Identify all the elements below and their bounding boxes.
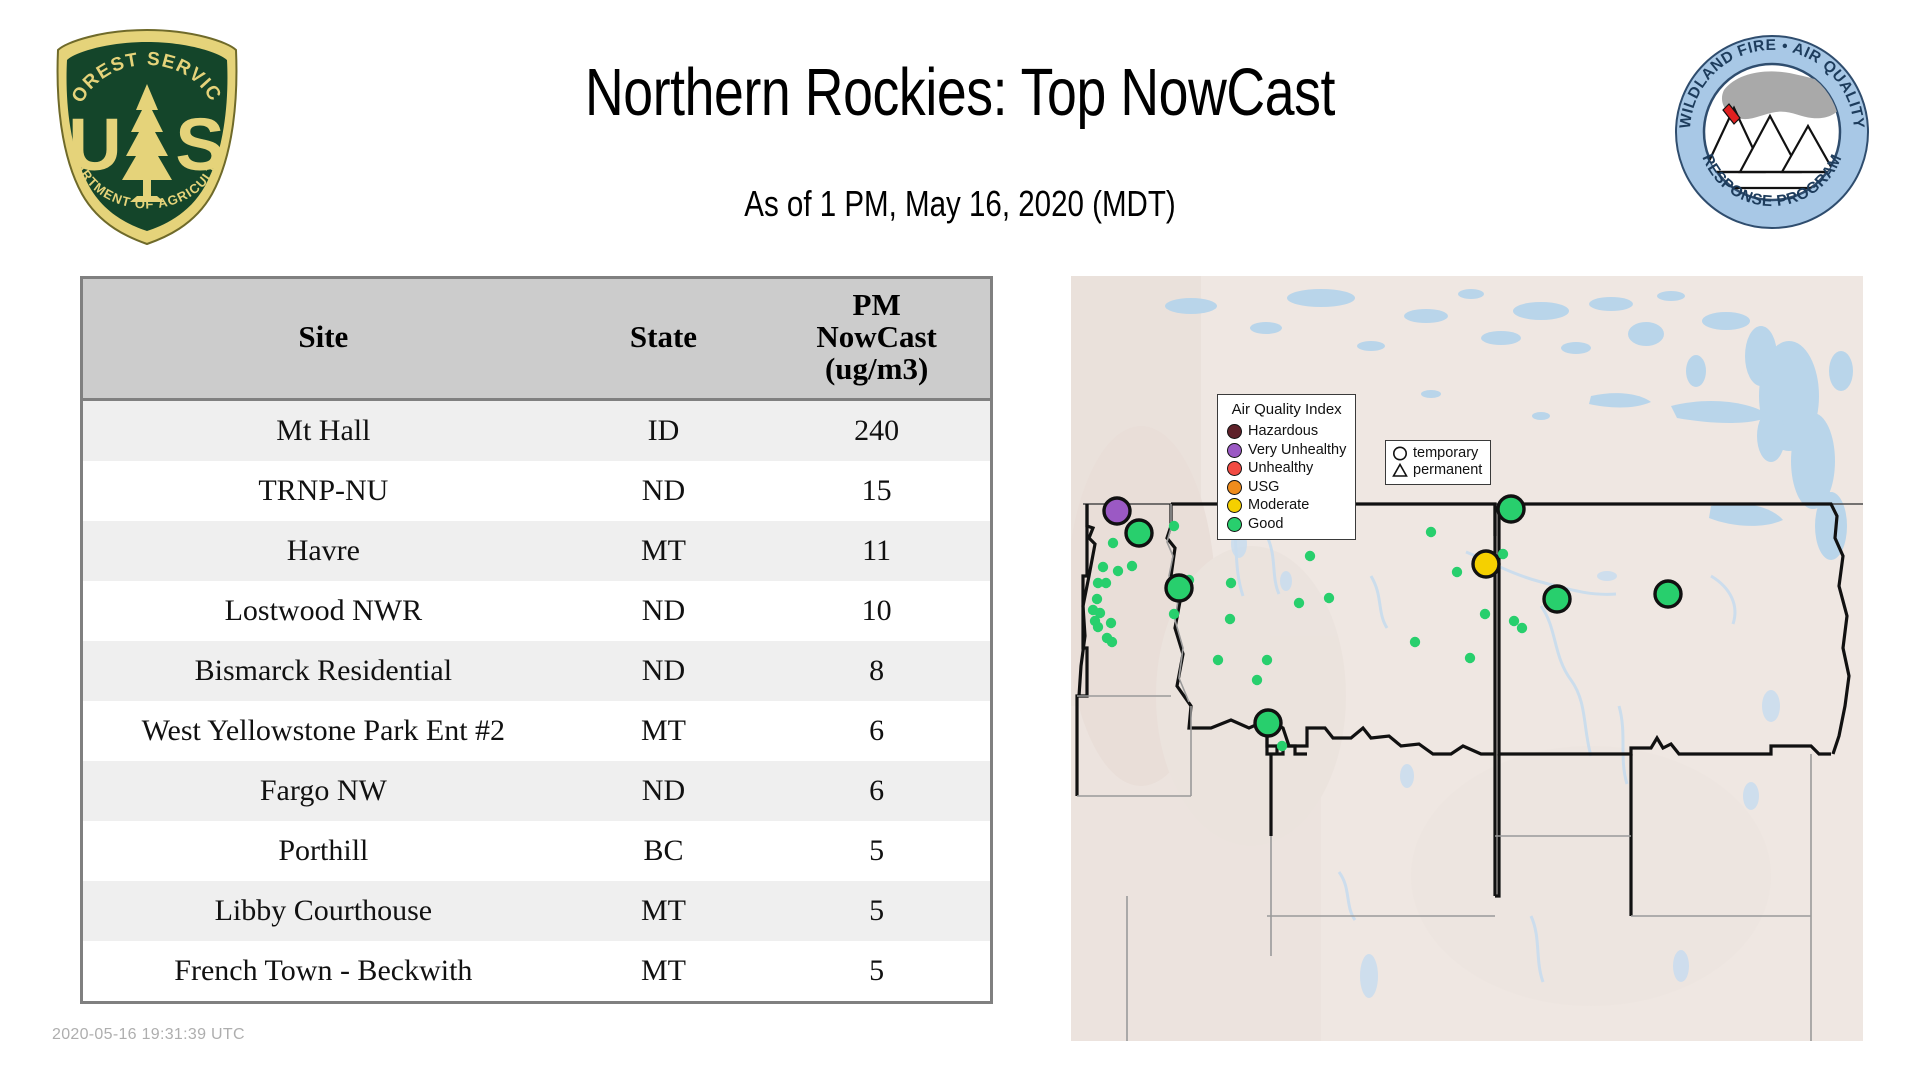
aqi-legend-item: Unhealthy: [1227, 459, 1346, 478]
column-header-site: Site: [83, 279, 564, 399]
monitor-marker-minor[interactable]: [1108, 538, 1118, 548]
aqi-legend-item: Good: [1227, 515, 1346, 534]
monitor-marker-minor[interactable]: [1277, 741, 1287, 751]
monitor-marker-minor[interactable]: [1252, 675, 1262, 685]
monitor-marker-minor[interactable]: [1113, 566, 1123, 576]
cell-pm: 6: [763, 761, 990, 821]
cell-state: BC: [564, 821, 764, 881]
monitor-marker-minor[interactable]: [1169, 521, 1179, 531]
column-header-pm-line3: (ug/m3): [767, 353, 986, 385]
monitor-marker-minor[interactable]: [1305, 551, 1315, 561]
column-header-state: State: [564, 279, 764, 399]
usfs-logo: FOREST SERVICE U S DEPARTMENT OF AGRICUL…: [52, 26, 242, 248]
usfs-letter-u: U: [68, 103, 121, 186]
cell-state: ND: [564, 581, 764, 641]
table-row: TRNP-NUND15: [83, 461, 990, 521]
cell-state: ND: [564, 641, 764, 701]
monitor-marker-minor[interactable]: [1498, 549, 1508, 559]
temporary-circle-icon: [1392, 445, 1408, 462]
cell-site: Fargo NW: [83, 761, 564, 821]
aqi-swatch-icon: [1227, 517, 1242, 532]
monitor-marker-minor[interactable]: [1509, 616, 1519, 626]
page-subtitle: As of 1 PM, May 16, 2020 (MDT): [419, 183, 1501, 225]
cell-pm: 5: [763, 941, 990, 1001]
monitor-marker-minor[interactable]: [1225, 614, 1235, 624]
monitor-marker-mt-hall[interactable]: Mt Hall: [1104, 498, 1130, 524]
cell-site: West Yellowstone Park Ent #2: [83, 701, 564, 761]
table-row: Fargo NWND6: [83, 761, 990, 821]
cell-pm: 8: [763, 641, 990, 701]
monitor-marker-minor[interactable]: [1107, 637, 1117, 647]
aqi-legend-label: Unhealthy: [1248, 459, 1313, 478]
column-header-pm-line2: NowCast: [767, 321, 986, 353]
monitor-marker-lostwood-nwr[interactable]: Lostwood NWR: [1498, 496, 1524, 522]
aqi-legend: Air Quality Index HazardousVery Unhealth…: [1217, 394, 1356, 540]
monitor-marker-minor[interactable]: [1324, 593, 1334, 603]
cell-site: Porthill: [83, 821, 564, 881]
table-row: HavreMT11: [83, 521, 990, 581]
monitor-marker-minor[interactable]: [1127, 561, 1137, 571]
monitor-marker-fargo-nw[interactable]: Fargo NW: [1655, 581, 1681, 607]
column-header-pm-nowcast: PM NowCast (ug/m3): [763, 279, 990, 399]
permanent-triangle-icon: [1392, 462, 1408, 479]
aqi-legend-label: Hazardous: [1248, 422, 1318, 441]
aqi-legend-label: Good: [1248, 515, 1283, 534]
table-row: West Yellowstone Park Ent #2MT6: [83, 701, 990, 761]
monitor-marker-minor[interactable]: [1093, 622, 1103, 632]
column-header-pm-line1: PM: [767, 289, 986, 321]
aqi-swatch-icon: [1227, 498, 1242, 513]
monitor-marker-minor[interactable]: [1517, 623, 1527, 633]
aqi-legend-label: Very Unhealthy: [1248, 441, 1346, 460]
monitor-marker-minor[interactable]: [1262, 655, 1272, 665]
cell-site: French Town - Beckwith: [83, 941, 564, 1001]
monitor-marker-minor[interactable]: [1480, 609, 1490, 619]
cell-pm: 5: [763, 821, 990, 881]
aqi-legend-item: USG: [1227, 478, 1346, 497]
nowcast-table: Site State PM NowCast (ug/m3) Mt HallID2…: [80, 276, 993, 1004]
cell-state: ND: [564, 761, 764, 821]
monitor-marker-minor[interactable]: [1452, 567, 1462, 577]
aqi-legend-item: Moderate: [1227, 496, 1346, 515]
cell-pm: 240: [763, 399, 990, 461]
table-header-row: Site State PM NowCast (ug/m3): [83, 279, 990, 399]
aqi-legend-title: Air Quality Index: [1227, 400, 1346, 419]
aqi-legend-item: Hazardous: [1227, 422, 1346, 441]
cell-site: Bismarck Residential: [83, 641, 564, 701]
aqi-legend-item: Very Unhealthy: [1227, 441, 1346, 460]
aqi-swatch-icon: [1227, 480, 1242, 495]
monitor-marker-minor[interactable]: [1410, 637, 1420, 647]
wfaqrp-logo: WILDLAND FIRE • AIR QUALITY RESPONSE PRO…: [1672, 32, 1872, 232]
cell-site: Havre: [83, 521, 564, 581]
permanent-label: permanent: [1413, 462, 1482, 479]
cell-state: MT: [564, 941, 764, 1001]
air-quality-map[interactable]: Mt HallPorthillLibby CourthouseHavreWest…: [1071, 276, 1863, 1041]
monitor-marker-minor[interactable]: [1098, 562, 1108, 572]
monitor-marker-west-yellowstone-park-ent-2[interactable]: West Yellowstone Park Ent #2: [1255, 710, 1281, 736]
cell-site: TRNP-NU: [83, 461, 564, 521]
table-row: Bismarck ResidentialND8: [83, 641, 990, 701]
aqi-swatch-icon: [1227, 424, 1242, 439]
site-type-permanent: permanent: [1392, 462, 1482, 479]
table-row: Lostwood NWRND10: [83, 581, 990, 641]
cell-state: ND: [564, 461, 764, 521]
site-type-temporary: temporary: [1392, 445, 1482, 462]
monitor-marker-trnp-nu[interactable]: TRNP-NU: [1473, 551, 1499, 577]
cell-state: MT: [564, 701, 764, 761]
cell-site: Lostwood NWR: [83, 581, 564, 641]
monitor-marker-bismarck-residential[interactable]: Bismarck Residential: [1544, 586, 1570, 612]
monitor-marker-libby-courthouse[interactable]: Libby Courthouse: [1166, 575, 1192, 601]
cell-state: ID: [564, 399, 764, 461]
aqi-swatch-icon: [1227, 461, 1242, 476]
page-title: Northern Rockies: Top NowCast: [432, 58, 1488, 128]
cell-site: Mt Hall: [83, 399, 564, 461]
cell-pm: 10: [763, 581, 990, 641]
aqi-swatch-icon: [1227, 443, 1242, 458]
monitor-marker-minor[interactable]: [1101, 578, 1111, 588]
table-row: Mt HallID240: [83, 399, 990, 461]
cell-pm: 11: [763, 521, 990, 581]
monitor-marker-minor[interactable]: [1213, 655, 1223, 665]
monitor-marker-minor[interactable]: [1294, 598, 1304, 608]
table-row: French Town - BeckwithMT5: [83, 941, 990, 1001]
monitor-marker-minor[interactable]: [1465, 653, 1475, 663]
cell-site: Libby Courthouse: [83, 881, 564, 941]
map-canvas[interactable]: Mt HallPorthillLibby CourthouseHavreWest…: [1071, 276, 1863, 1041]
cell-state: MT: [564, 881, 764, 941]
cell-pm: 15: [763, 461, 990, 521]
table-row: Libby CourthouseMT5: [83, 881, 990, 941]
monitor-marker-porthill[interactable]: Porthill: [1126, 520, 1152, 546]
cell-pm: 6: [763, 701, 990, 761]
table-row: PorthillBC5: [83, 821, 990, 881]
monitor-marker-minor[interactable]: [1169, 609, 1179, 619]
aqi-legend-label: Moderate: [1248, 496, 1309, 515]
cell-pm: 5: [763, 881, 990, 941]
footer-timestamp: 2020-05-16 19:31:39 UTC: [52, 1026, 245, 1044]
cell-state: MT: [564, 521, 764, 581]
monitor-marker-minor[interactable]: [1106, 618, 1116, 628]
monitor-marker-minor[interactable]: [1426, 527, 1436, 537]
monitor-marker-minor[interactable]: [1226, 578, 1236, 588]
temporary-label: temporary: [1413, 445, 1478, 462]
site-type-legend: temporary permanent: [1385, 440, 1491, 485]
monitor-marker-minor[interactable]: [1092, 594, 1102, 604]
aqi-legend-label: USG: [1248, 478, 1279, 497]
